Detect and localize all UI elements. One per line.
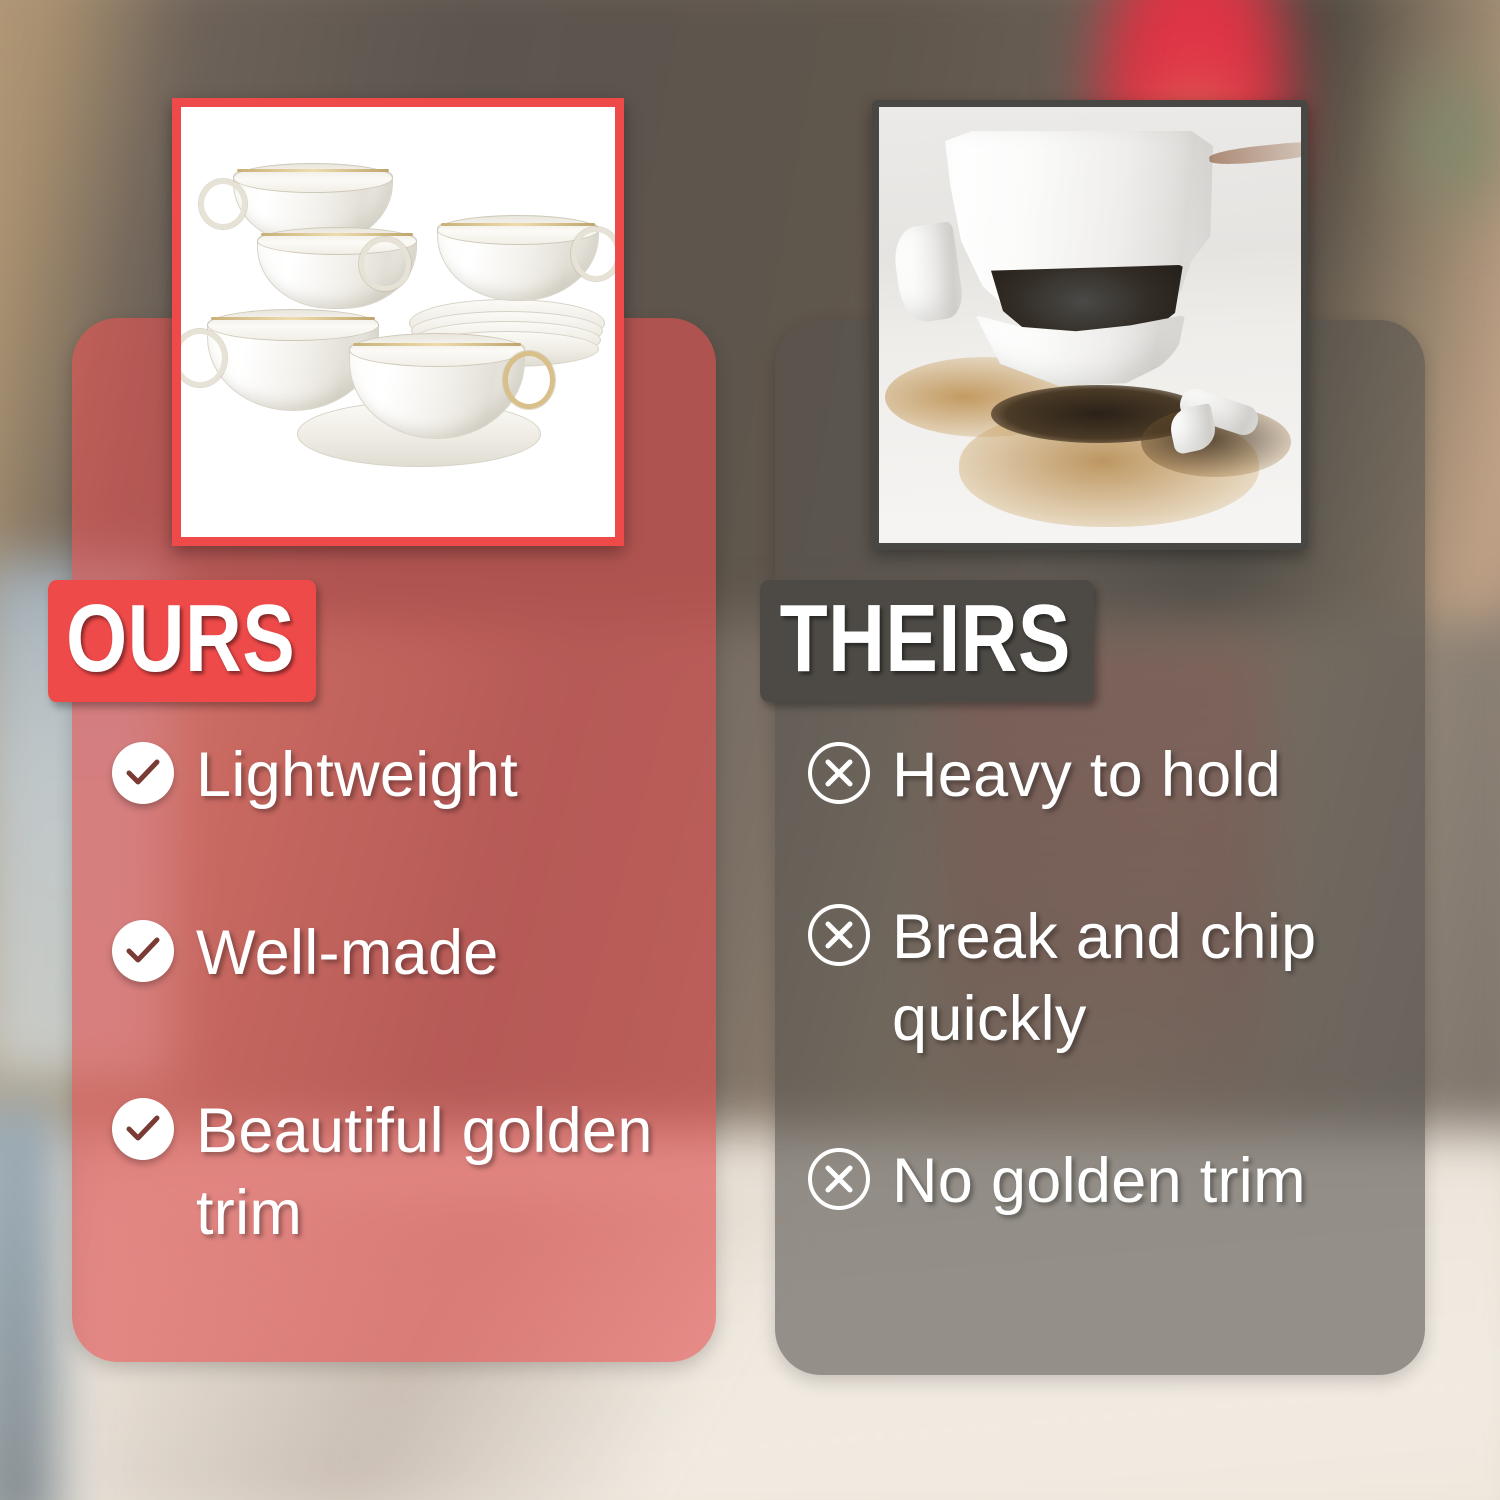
product-photo-broken-cup	[872, 100, 1308, 550]
feature-label: Beautiful golden trim	[196, 1091, 682, 1255]
badge-theirs-label: THEIRS	[780, 590, 1071, 688]
background-left-edge	[0, 1100, 60, 1500]
check-circle-icon	[112, 920, 174, 982]
feature-label: Well-made	[196, 913, 499, 995]
check-circle-icon	[112, 742, 174, 804]
feature-label: No golden trim	[892, 1141, 1306, 1223]
feature-label: Lightweight	[196, 735, 518, 817]
list-item: Break and chip quickly	[808, 897, 1368, 1061]
feature-label: Break and chip quickly	[892, 897, 1368, 1061]
list-item: Heavy to hold	[808, 735, 1368, 817]
teacup-set-illustration	[181, 107, 615, 537]
badge-ours: OURS	[48, 580, 316, 702]
list-item: Lightweight	[112, 735, 682, 817]
list-item: Beautiful golden trim	[112, 1091, 682, 1255]
badge-theirs: THEIRS	[760, 580, 1094, 702]
x-circle-icon	[808, 742, 870, 804]
x-circle-icon	[808, 1148, 870, 1210]
feature-list-ours: Lightweight Well-made Beautiful golden t…	[112, 735, 682, 1351]
background-green-blob	[1380, 40, 1500, 240]
x-circle-icon	[808, 904, 870, 966]
check-circle-icon	[112, 1098, 174, 1160]
list-item: Well-made	[112, 913, 682, 995]
badge-ours-label: OURS	[66, 590, 295, 688]
feature-list-theirs: Heavy to hold Break and chip quickly No …	[808, 735, 1368, 1303]
product-photo-teacup-set	[172, 98, 624, 546]
broken-cup-illustration	[879, 107, 1301, 543]
list-item: No golden trim	[808, 1141, 1368, 1223]
feature-label: Heavy to hold	[892, 735, 1281, 817]
